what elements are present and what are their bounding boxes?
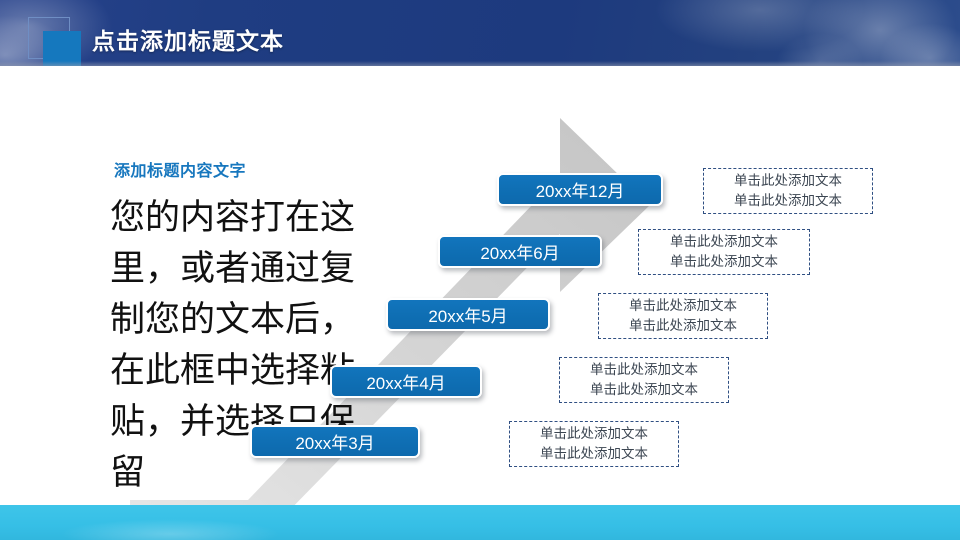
timeline-chip-label: 20xx年12月 bbox=[536, 177, 625, 202]
note-box-2[interactable]: 单击此处添加文本 单击此处添加文本 bbox=[638, 229, 810, 275]
timeline-chip-4[interactable]: 20xx年4月 bbox=[330, 365, 482, 398]
slide-header: 点击添加标题文本 bbox=[0, 0, 960, 66]
timeline-chip-label: 20xx年6月 bbox=[480, 239, 559, 264]
timeline-chip-label: 20xx年3月 bbox=[295, 429, 374, 454]
header-bottom-shade bbox=[0, 61, 960, 66]
timeline-chip-1[interactable]: 20xx年12月 bbox=[497, 173, 663, 206]
note-line-2: 单击此处添加文本 bbox=[590, 380, 698, 400]
content-heading: 添加标题内容文字 bbox=[114, 157, 246, 181]
slide-canvas: 点击添加标题文本 添加标题内容文字 您的内容打在这里，或者通过复制您的文本后，在… bbox=[0, 0, 960, 540]
note-line-1: 单击此处添加文本 bbox=[590, 360, 698, 380]
timeline-chip-3[interactable]: 20xx年5月 bbox=[386, 298, 550, 331]
note-line-2: 单击此处添加文本 bbox=[670, 252, 778, 272]
note-line-2: 单击此处添加文本 bbox=[734, 191, 842, 211]
footer-band bbox=[0, 505, 960, 540]
timeline-chip-2[interactable]: 20xx年6月 bbox=[438, 235, 602, 268]
note-line-1: 单击此处添加文本 bbox=[629, 296, 737, 316]
note-box-3[interactable]: 单击此处添加文本 单击此处添加文本 bbox=[598, 293, 768, 339]
timeline-chip-label: 20xx年4月 bbox=[366, 369, 445, 394]
note-box-5[interactable]: 单击此处添加文本 单击此处添加文本 bbox=[509, 421, 679, 467]
note-box-4[interactable]: 单击此处添加文本 单击此处添加文本 bbox=[559, 357, 729, 403]
footer-band-glow bbox=[60, 519, 280, 540]
note-line-1: 单击此处添加文本 bbox=[540, 424, 648, 444]
note-line-2: 单击此处添加文本 bbox=[629, 316, 737, 336]
page-title: 点击添加标题文本 bbox=[92, 22, 284, 56]
note-line-1: 单击此处添加文本 bbox=[670, 232, 778, 252]
timeline-chip-label: 20xx年5月 bbox=[428, 302, 507, 327]
note-box-1[interactable]: 单击此处添加文本 单击此处添加文本 bbox=[703, 168, 873, 214]
note-line-2: 单击此处添加文本 bbox=[540, 444, 648, 464]
note-line-1: 单击此处添加文本 bbox=[734, 171, 842, 191]
timeline-chip-5[interactable]: 20xx年3月 bbox=[250, 425, 420, 458]
